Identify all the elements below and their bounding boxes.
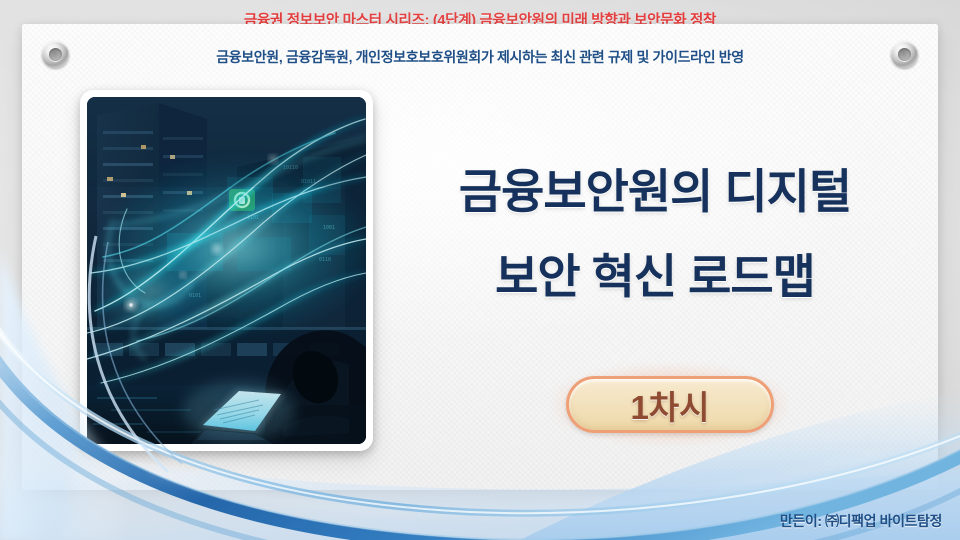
slide-canvas: 금융권 정보보안 마스터 시리즈: (4단계) 금융보안원의 미래 방향과 보안… — [0, 0, 960, 540]
cover-photo: 10110 01011 1001 0110 1101 0101 — [87, 97, 366, 444]
session-badge-pill: 1차시 — [566, 376, 774, 433]
grommet-left-icon — [42, 41, 69, 68]
grommet-right-icon — [891, 41, 918, 68]
page-title-line-1: 금융보안원의 디지털 — [400, 168, 910, 215]
cover-photo-frame: 10110 01011 1001 0110 1101 0101 — [80, 90, 373, 451]
footer-credit: 만든이: ㈜디팩업 바이트탐정 — [780, 511, 942, 531]
slide-subtitle: 금융보안원, 금융감독원, 개인정보호보호위원회가 제시하는 최신 관련 규제 … — [0, 47, 960, 67]
page-title: 금융보안원의 디지털 보안 혁신 로드맵 — [400, 168, 910, 300]
session-badge-label: 1차시 — [630, 381, 709, 429]
session-badge: 1차시 — [566, 376, 774, 433]
page-title-line-2: 보안 혁신 로드맵 — [400, 253, 910, 300]
